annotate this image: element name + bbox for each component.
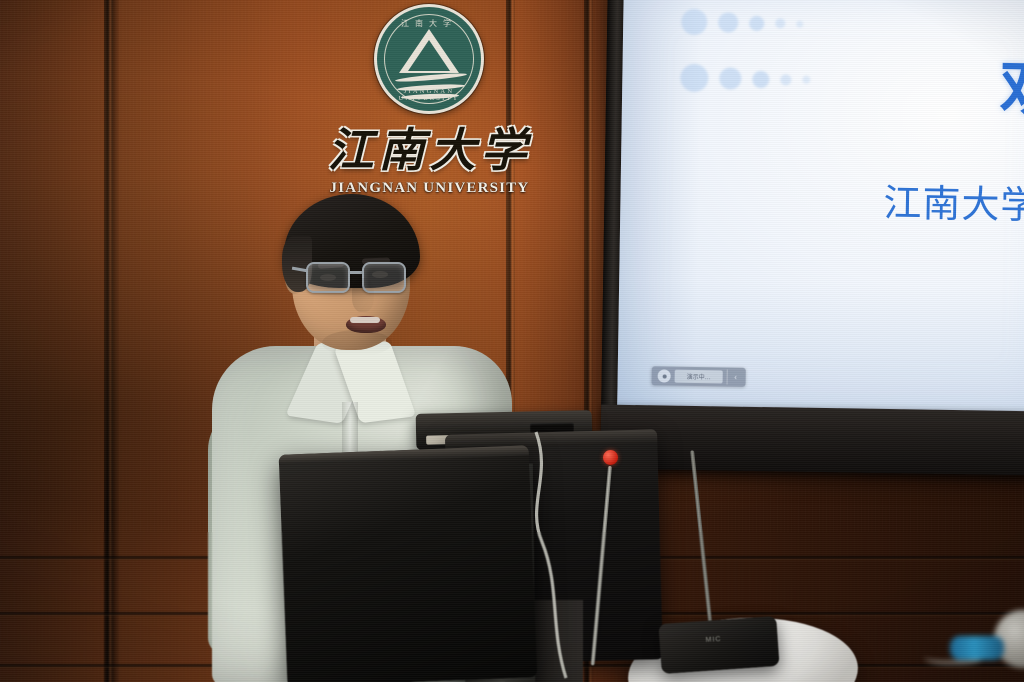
lecture-hall-photo: 江南大学 JIANGNAN UNIVERSITY 江南大学 JIANGNAN U… — [0, 0, 1024, 682]
mic-tip-icon — [603, 450, 618, 465]
seal-english-text: JIANGNAN UNIVERSITY — [377, 88, 481, 102]
speaker-nose — [352, 278, 374, 312]
speaker-chin-shadow — [322, 330, 392, 356]
blue-connector — [950, 636, 1004, 660]
screen-bottom-valance — [600, 405, 1024, 476]
university-logo: 江南大学 JIANGNAN UNIVERSITY 江南大学 JIANGNAN U… — [322, 2, 537, 207]
university-seal-icon: 江南大学 JIANGNAN UNIVERSITY — [374, 4, 484, 114]
wordmark-chinese: 江南大学 — [322, 114, 537, 180]
seal-mountain-inner — [408, 40, 450, 71]
front-monitor — [279, 445, 538, 682]
screen-glare — [617, 0, 1024, 414]
mic-base-label: MIC — [705, 636, 721, 644]
projection-screen: 欢 江南大学生 文 演示中… ‹ — [600, 0, 1024, 475]
glasses-lens-left — [306, 262, 350, 293]
seal-chinese-text: 江南大学 — [377, 18, 481, 29]
microphone-base-unit: MIC — [658, 616, 779, 674]
blue-cable-connector — [930, 628, 1022, 664]
speaker-teeth — [350, 317, 380, 323]
screen-surface: 欢 江南大学生 文 演示中… ‹ — [617, 0, 1024, 414]
gooseneck-microphone — [598, 450, 638, 682]
